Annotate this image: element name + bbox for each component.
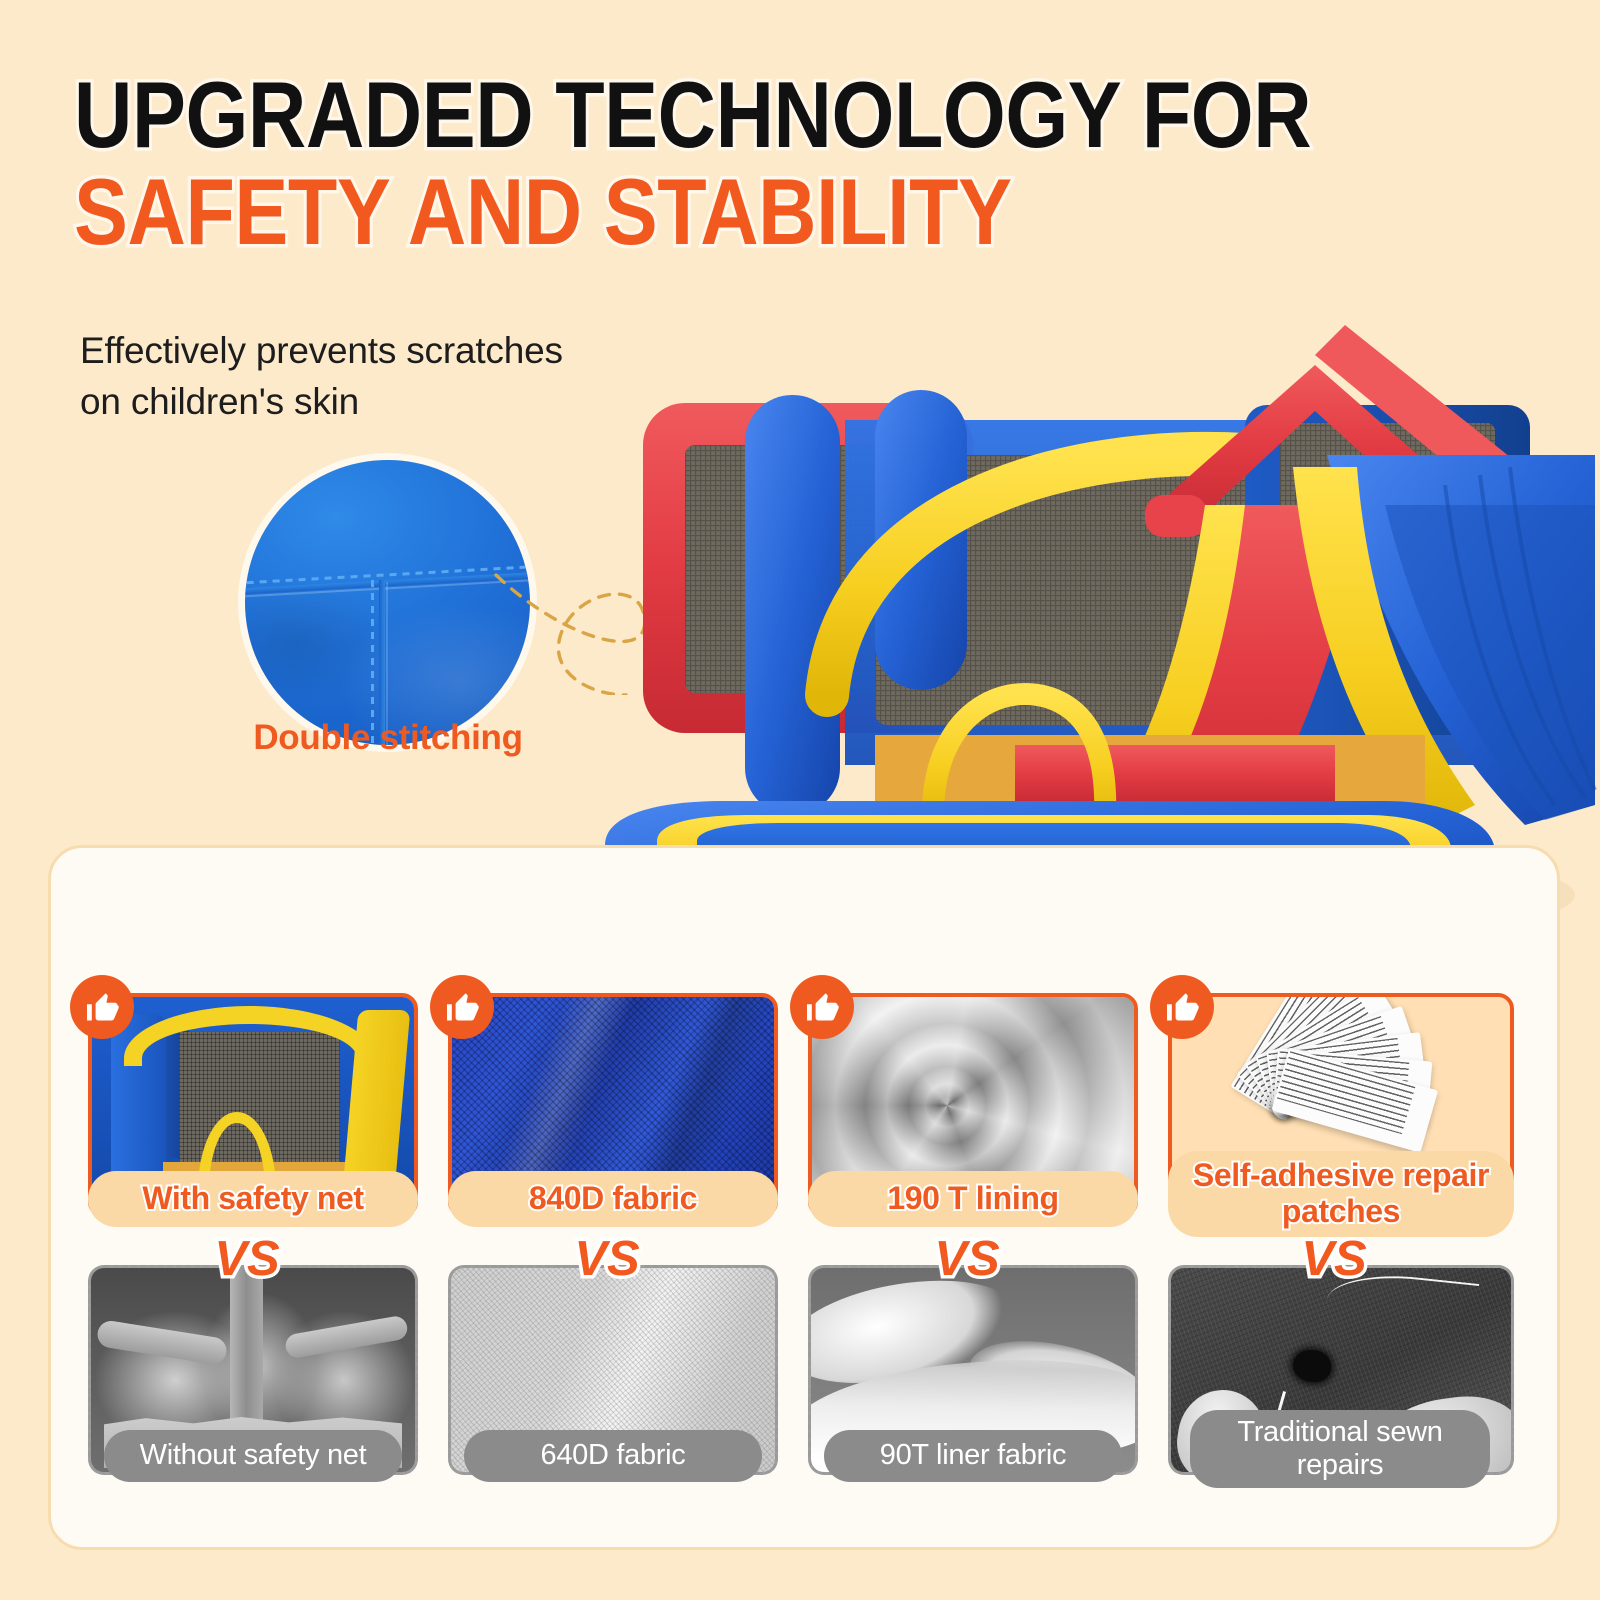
bad-label-text: 90T liner fabric	[880, 1439, 1066, 1472]
headline-line-1: UPGRADED TECHNOLOGY FOR	[74, 68, 1063, 161]
comparison-column-repair: Self-adhesive repair patches VS Traditio…	[1150, 975, 1518, 1535]
bad-label-pill: Without safety net	[104, 1430, 402, 1482]
good-label-text: 190 T lining	[887, 1181, 1058, 1217]
bad-label-text: 640D fabric	[541, 1439, 686, 1472]
thumbs-up-icon	[70, 975, 134, 1039]
comparison-grid: With safety net VS Without safety net	[70, 975, 1540, 1535]
thumbs-up-icon	[1150, 975, 1214, 1039]
good-label-pill: 840D fabric	[448, 1171, 778, 1227]
inflatable-pole	[230, 1268, 262, 1448]
bad-label-pill: Traditional sewn repairs	[1190, 1410, 1490, 1488]
thumbs-up-icon	[790, 975, 854, 1039]
good-label-text: Self-adhesive repair patches	[1178, 1158, 1504, 1230]
vs-divider: VS	[1150, 1231, 1518, 1287]
subtitle-text: Effectively prevents scratches on childr…	[80, 325, 563, 427]
good-label-text: With safety net	[142, 1181, 363, 1217]
good-label-pill: 190 T lining	[808, 1171, 1138, 1227]
good-label-pill: With safety net	[88, 1171, 418, 1227]
comparison-column-lining: 190 T lining VS 90T liner fabric	[790, 975, 1144, 1535]
comparison-column-fabric: 840D fabric VS 640D fabric	[430, 975, 784, 1535]
inflatable-arm-right	[284, 1315, 409, 1360]
fabric-shading	[245, 460, 530, 745]
bad-label-pill: 90T liner fabric	[824, 1430, 1122, 1482]
vs-divider: VS	[790, 1231, 1144, 1287]
yellow-arch	[124, 1006, 375, 1067]
bad-label-text: Traditional sewn repairs	[1202, 1416, 1478, 1482]
good-label-pill: Self-adhesive repair patches	[1168, 1151, 1514, 1237]
double-stitching-closeup-image	[245, 460, 530, 745]
thumbs-up-icon	[430, 975, 494, 1039]
bad-label-text: Without safety net	[140, 1439, 367, 1472]
double-stitching-label: Double stitching	[232, 718, 544, 758]
vs-divider: VS	[70, 1231, 424, 1287]
bad-label-pill: 640D fabric	[464, 1430, 762, 1482]
comparison-column-safety-net: With safety net VS Without safety net	[70, 975, 424, 1535]
infographic-page: UPGRADED TECHNOLOGY FOR SAFETY AND STABI…	[0, 0, 1600, 1600]
vs-divider: VS	[430, 1231, 784, 1287]
inflatable-arm-left	[96, 1319, 228, 1365]
good-label-text: 840D fabric	[529, 1181, 697, 1217]
fabric-hole	[1293, 1350, 1330, 1383]
